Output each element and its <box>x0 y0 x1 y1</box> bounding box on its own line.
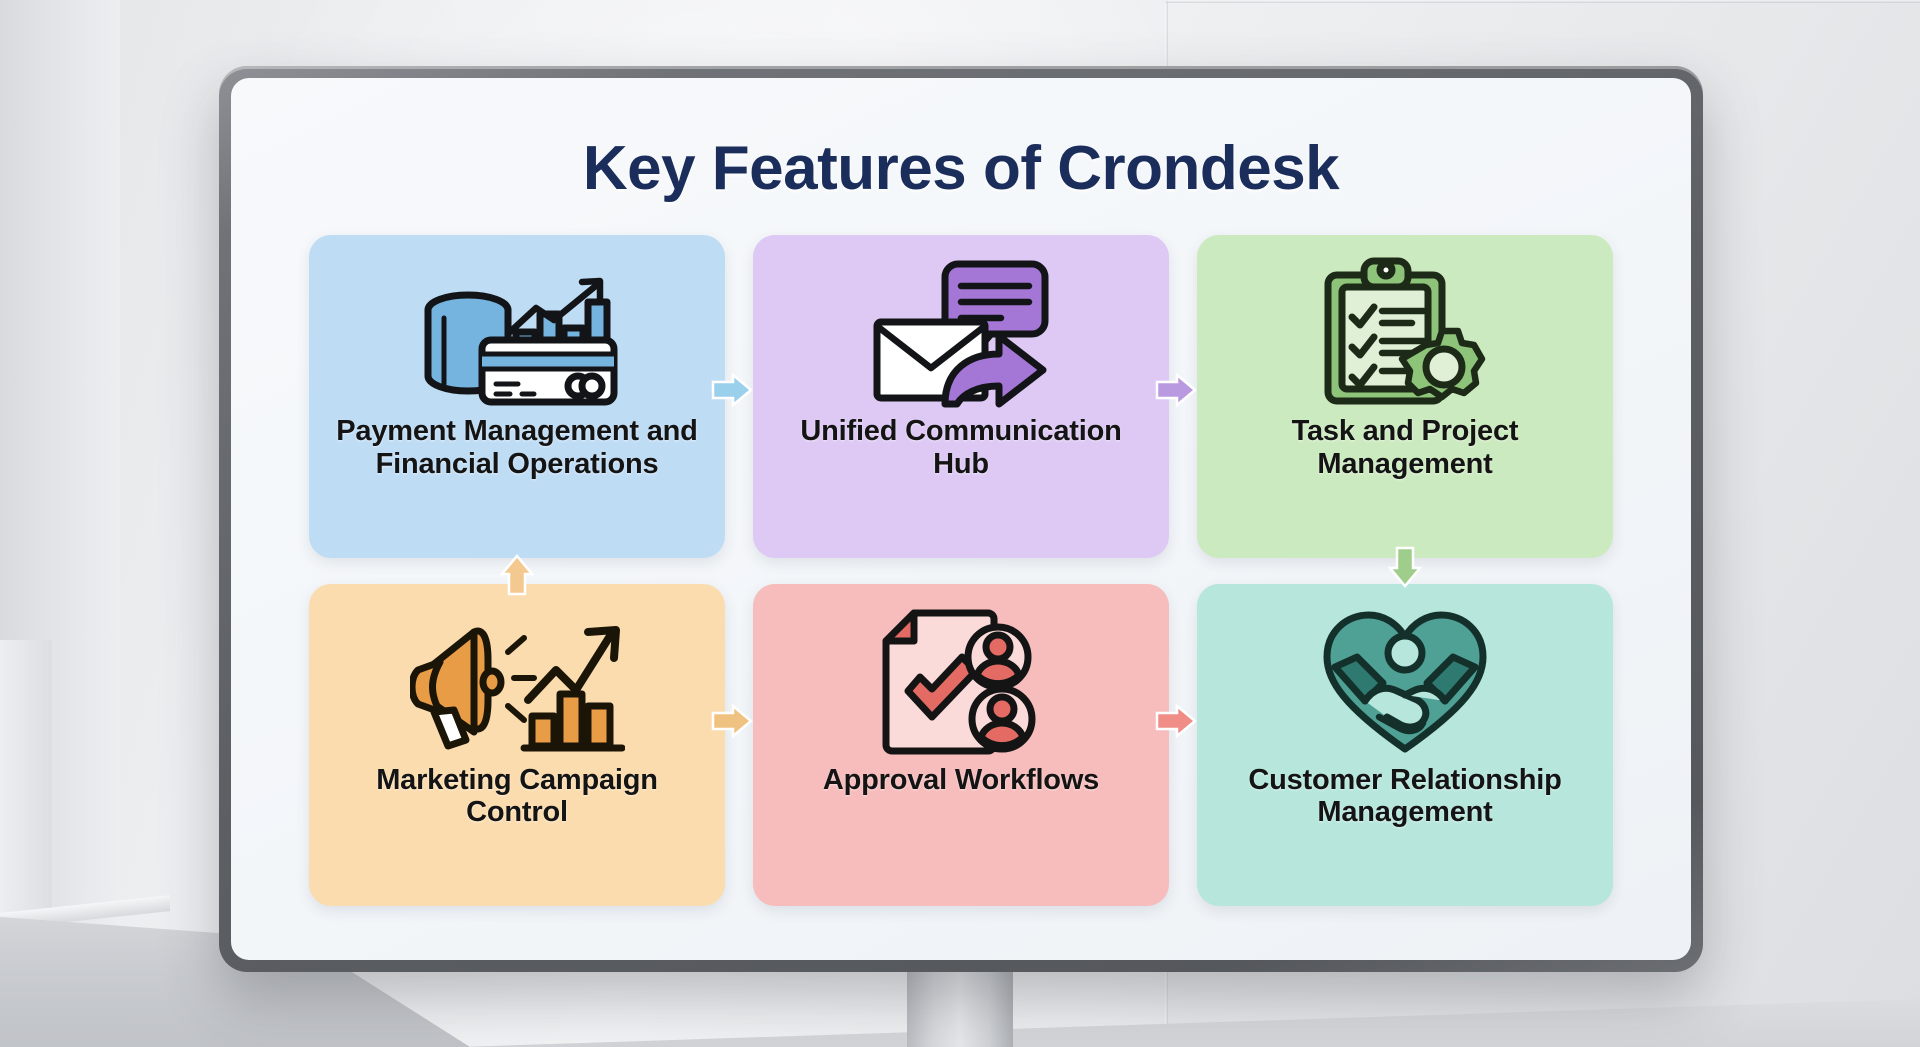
feature-card-label: Unified Communication Hub <box>769 415 1153 480</box>
feature-card-task-and-project-management[interactable]: Task and Project Management <box>1197 235 1613 557</box>
coins-card-chart-icon <box>325 257 709 409</box>
connector-marketing-to-payment <box>500 552 534 596</box>
wall-seam-horizontal <box>1165 0 1920 3</box>
scene: Key Features of Crondesk <box>0 0 1920 1047</box>
connector-approval-to-crm <box>1155 704 1199 738</box>
feature-card-label: Customer Relationship Management <box>1213 764 1597 829</box>
feature-card-grid: Payment Management and Financial Operati… <box>289 235 1633 920</box>
monitor-stand <box>907 968 1013 1047</box>
feature-card-marketing-campaign-control[interactable]: Marketing Campaign Control <box>309 584 725 906</box>
wall-pillar-left <box>0 640 52 940</box>
feature-card-label: Approval Workflows <box>817 764 1105 796</box>
connector-communication-to-task <box>1155 373 1199 407</box>
feature-card-customer-relationship-management[interactable]: Customer Relationship Management <box>1197 584 1613 906</box>
monitor-screen: Key Features of Crondesk <box>231 78 1691 960</box>
feature-card-approval-workflows[interactable]: Approval Workflows <box>753 584 1169 906</box>
feature-card-payment-management[interactable]: Payment Management and Financial Operati… <box>309 235 725 557</box>
connector-payment-to-communication <box>711 373 755 407</box>
megaphone-growth-chart-icon <box>325 606 709 758</box>
feature-card-label: Payment Management and Financial Operati… <box>325 415 709 480</box>
connector-marketing-to-approval <box>711 704 755 738</box>
document-check-users-icon <box>769 606 1153 758</box>
envelope-chat-forward-icon <box>769 257 1153 409</box>
monitor-bezel: Key Features of Crondesk <box>219 66 1703 972</box>
slide-canvas: Key Features of Crondesk <box>231 78 1691 960</box>
feature-card-label: Marketing Campaign Control <box>325 764 709 829</box>
feature-card-label: Task and Project Management <box>1213 415 1597 480</box>
clipboard-checklist-gear-icon <box>1213 257 1597 409</box>
connector-task-to-crm <box>1388 546 1422 590</box>
heart-handshake-icon <box>1213 606 1597 758</box>
page-title: Key Features of Crondesk <box>289 136 1633 201</box>
feature-card-unified-communication-hub[interactable]: Unified Communication Hub <box>753 235 1169 557</box>
